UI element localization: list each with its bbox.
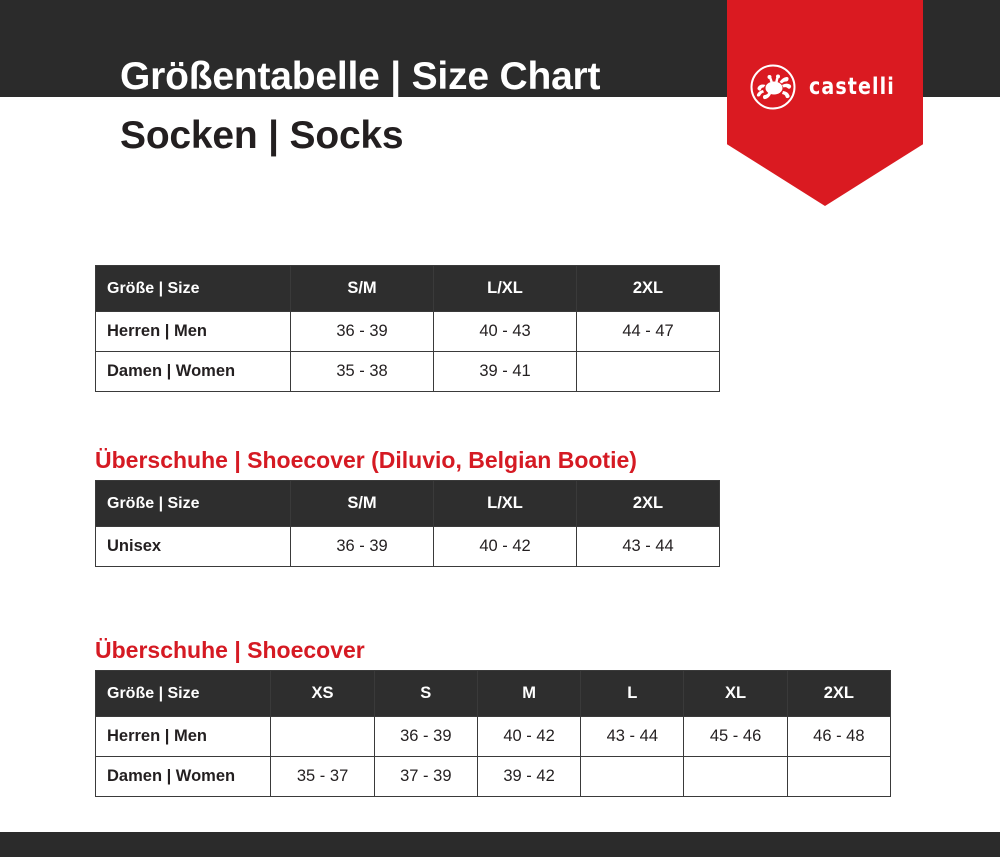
table-cell: 40 - 43 [434, 312, 577, 352]
section-heading: Überschuhe | Shoecover (Diluvio, Belgian… [95, 447, 720, 473]
column-header: S [374, 671, 477, 717]
table-header-row: Größe | Size S/M L/XL 2XL [96, 266, 720, 312]
table-row: Herren | Men 36 - 39 40 - 43 44 - 47 [96, 312, 720, 352]
table-cell: 40 - 42 [477, 717, 580, 757]
table-cell: 39 - 42 [477, 757, 580, 797]
table-cell: 44 - 47 [577, 312, 720, 352]
row-label: Herren | Men [96, 312, 291, 352]
row-label: Herren | Men [96, 717, 271, 757]
table-cell [787, 757, 890, 797]
table-cell [577, 352, 720, 392]
table-row: Herren | Men 36 - 39 40 - 42 43 - 44 45 … [96, 717, 891, 757]
table-cell: 36 - 39 [291, 312, 434, 352]
table-cell: 45 - 46 [684, 717, 787, 757]
table-shoecover: Größe | Size XS S M L XL 2XL Herren | Me… [95, 670, 891, 797]
column-header: 2XL [577, 266, 720, 312]
table-row: Unisex 36 - 39 40 - 42 43 - 44 [96, 527, 720, 567]
page-title-primary: Größentabelle | Size Chart [120, 55, 600, 99]
brand-logo: castelli [748, 60, 928, 114]
table-cell: 36 - 39 [291, 527, 434, 567]
table-cell [271, 717, 374, 757]
column-header: Größe | Size [96, 266, 291, 312]
table-cell: 43 - 44 [577, 527, 720, 567]
table-header-row: Größe | Size XS S M L XL 2XL [96, 671, 891, 717]
table-shoecover-diluvio: Größe | Size S/M L/XL 2XL Unisex 36 - 39… [95, 480, 720, 567]
column-header: XS [271, 671, 374, 717]
column-header: 2XL [787, 671, 890, 717]
page-title-secondary: Socken | Socks [120, 114, 403, 158]
table-header-row: Größe | Size S/M L/XL 2XL [96, 481, 720, 527]
scorpion-in-circle-icon [748, 62, 798, 112]
table-cell: 35 - 37 [271, 757, 374, 797]
column-header: L/XL [434, 481, 577, 527]
section-socks: Größe | Size S/M L/XL 2XL Herren | Men 3… [95, 265, 720, 392]
footer-band [0, 832, 1000, 857]
column-header: Größe | Size [96, 671, 271, 717]
column-header: L [581, 671, 684, 717]
row-label: Unisex [96, 527, 291, 567]
column-header: M [477, 671, 580, 717]
column-header: Größe | Size [96, 481, 291, 527]
column-header: XL [684, 671, 787, 717]
table-cell [581, 757, 684, 797]
table-cell: 39 - 41 [434, 352, 577, 392]
row-label: Damen | Women [96, 352, 291, 392]
table-socks: Größe | Size S/M L/XL 2XL Herren | Men 3… [95, 265, 720, 392]
table-cell: 46 - 48 [787, 717, 890, 757]
table-cell: 35 - 38 [291, 352, 434, 392]
table-cell: 37 - 39 [374, 757, 477, 797]
row-label: Damen | Women [96, 757, 271, 797]
table-cell: 40 - 42 [434, 527, 577, 567]
column-header: S/M [291, 266, 434, 312]
section-shoecover-diluvio: Überschuhe | Shoecover (Diluvio, Belgian… [95, 447, 720, 567]
section-shoecover: Überschuhe | Shoecover Größe | Size XS S… [95, 637, 891, 797]
column-header: 2XL [577, 481, 720, 527]
brand-wordmark: castelli [809, 74, 895, 100]
section-heading: Überschuhe | Shoecover [95, 637, 891, 663]
column-header: S/M [291, 481, 434, 527]
table-row: Damen | Women 35 - 37 37 - 39 39 - 42 [96, 757, 891, 797]
table-cell [684, 757, 787, 797]
table-row: Damen | Women 35 - 38 39 - 41 [96, 352, 720, 392]
column-header: L/XL [434, 266, 577, 312]
table-cell: 43 - 44 [581, 717, 684, 757]
table-cell: 36 - 39 [374, 717, 477, 757]
